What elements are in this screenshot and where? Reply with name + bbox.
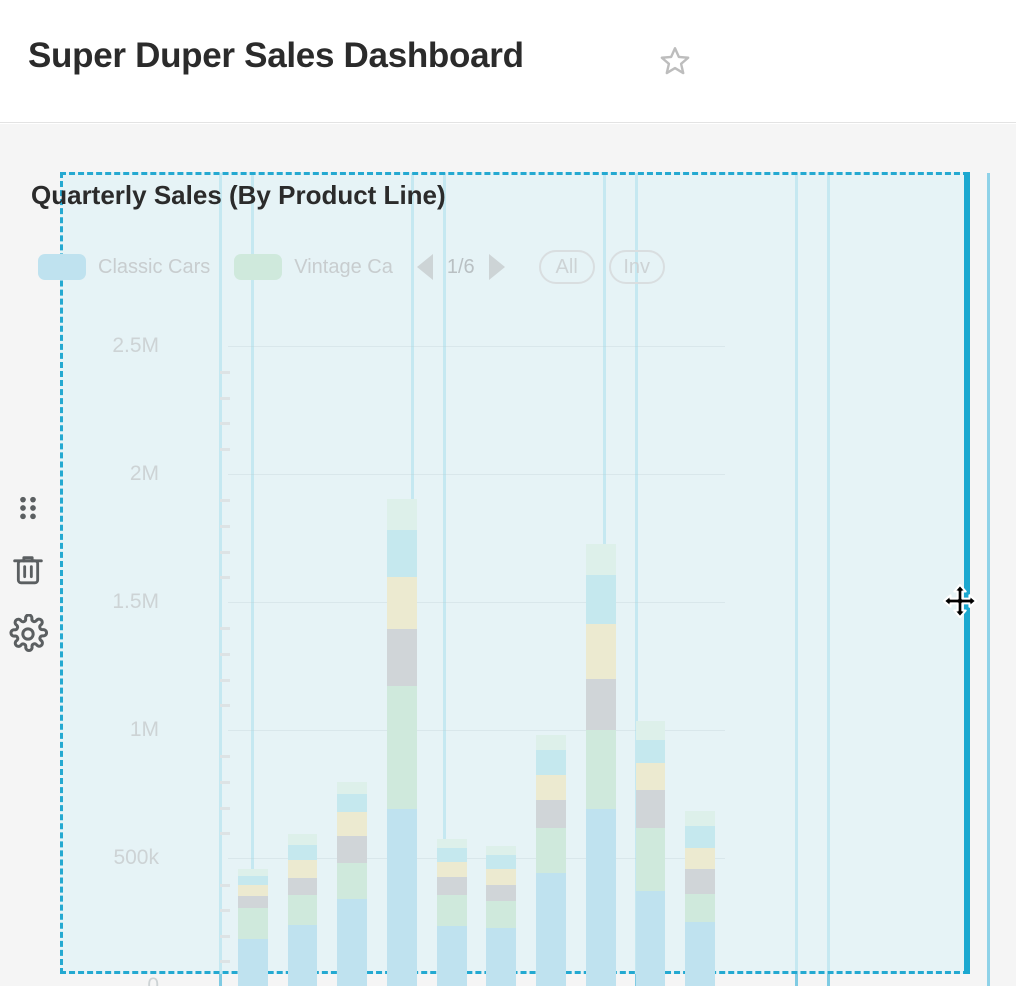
legend-item-classic-cars[interactable]: Classic Cars <box>38 254 210 280</box>
bar-segment <box>486 901 516 928</box>
bar-segment <box>238 885 268 897</box>
bar-segment <box>288 845 318 860</box>
y-gridline <box>228 474 725 475</box>
bar-stack[interactable] <box>586 544 616 986</box>
dashboard-canvas: Quarterly Sales (By Product Line) Classi… <box>0 124 1016 986</box>
bar-segment <box>437 926 467 986</box>
y-axis-minor-tick <box>220 884 230 887</box>
y-axis-minor-tick <box>220 781 230 784</box>
bar-segment <box>586 544 616 575</box>
y-axis-minor-tick <box>220 653 230 656</box>
bar-segment <box>586 809 616 986</box>
bar-segment <box>586 679 616 730</box>
bar-segment <box>288 834 318 846</box>
bar-segment <box>486 869 516 884</box>
bar-segment <box>337 782 367 794</box>
bar-segment <box>288 878 318 895</box>
bar-segment <box>337 863 367 899</box>
y-gridline <box>228 602 725 603</box>
bar-segment <box>636 891 666 986</box>
plot-area: 0500k1M1.5M2M2.5M2003AprJulOct2004AprJul… <box>168 320 668 980</box>
bar-segment <box>586 575 616 624</box>
filter-inv-button[interactable]: Inv <box>609 250 665 284</box>
bar-segment <box>536 775 566 801</box>
y-axis-tick-label: 2.5M <box>112 334 159 358</box>
star-outline-icon[interactable] <box>658 44 692 78</box>
legend-item-vintage-cars[interactable]: Vintage Ca <box>234 254 393 280</box>
bar-segment <box>486 855 516 869</box>
bar-segment <box>685 894 715 922</box>
pager-count: 1/6 <box>447 256 475 279</box>
filter-all-button[interactable]: All <box>539 250 595 284</box>
page-title: Super Duper Sales Dashboard <box>28 36 524 76</box>
bar-segment <box>387 577 417 628</box>
bar-segment <box>536 735 566 750</box>
bar-segment <box>437 895 467 926</box>
bar-segment <box>636 790 666 828</box>
bar-segment <box>536 828 566 873</box>
bar-segment <box>685 922 715 986</box>
bar-segment <box>636 763 666 790</box>
y-axis-minor-tick <box>220 909 230 912</box>
bar-segment <box>486 885 516 902</box>
bar-segment <box>437 848 467 862</box>
drag-handle-icon[interactable] <box>8 488 48 528</box>
bar-segment <box>586 624 616 679</box>
bar-segment <box>437 862 467 877</box>
bar-segment <box>387 499 417 530</box>
y-axis-minor-tick <box>220 576 230 579</box>
bar-segment <box>437 839 467 848</box>
bar-segment <box>387 629 417 687</box>
chart-legend: Classic Cars Vintage Ca 1/6 All Inv <box>38 250 665 284</box>
bar-segment <box>636 828 666 891</box>
bar-stack[interactable] <box>288 834 318 986</box>
y-axis-tick-label: 1M <box>130 718 159 742</box>
bar-stack[interactable] <box>437 839 467 986</box>
panel-tool-rail <box>0 124 56 986</box>
bar-segment <box>288 860 318 878</box>
bar-segment <box>486 846 516 855</box>
bar-segment <box>238 939 268 986</box>
bar-segment <box>238 876 268 885</box>
legend-item-label: Vintage Ca <box>294 256 393 279</box>
bar-segment <box>486 928 516 986</box>
bar-segment <box>288 895 318 924</box>
bar-segment <box>536 750 566 774</box>
bar-segment <box>685 811 715 826</box>
y-axis-minor-tick <box>220 704 230 707</box>
bar-segment <box>636 721 666 740</box>
y-axis-minor-tick <box>220 679 230 682</box>
bar-segment <box>337 812 367 836</box>
y-axis-minor-tick <box>220 755 230 758</box>
y-axis-tick-label: 0 <box>147 974 159 986</box>
legend-swatch <box>234 254 282 280</box>
trash-icon[interactable] <box>8 550 48 590</box>
bar-stack[interactable] <box>685 811 715 986</box>
bar-segment <box>337 899 367 986</box>
y-axis-minor-tick <box>220 525 230 528</box>
bar-segment <box>238 896 268 908</box>
bar-segment <box>685 826 715 848</box>
y-axis-minor-tick <box>220 448 230 451</box>
gear-icon[interactable] <box>8 614 48 654</box>
y-axis-tick-label: 1.5M <box>112 590 159 614</box>
bar-stack[interactable] <box>337 782 367 986</box>
bar-segment <box>685 869 715 893</box>
bar-segment <box>536 873 566 986</box>
app-header: Super Duper Sales Dashboard <box>0 0 1016 123</box>
bar-stack[interactable] <box>238 869 268 986</box>
bar-segment <box>536 800 566 828</box>
chart-title: Quarterly Sales (By Product Line) <box>31 180 446 211</box>
y-axis-minor-tick <box>220 551 230 554</box>
panel-resize-handle-right[interactable] <box>964 172 970 974</box>
y-axis-minor-tick <box>220 371 230 374</box>
bar-stack[interactable] <box>486 846 516 986</box>
bar-segment <box>387 530 417 577</box>
grid-guide-line <box>987 173 990 986</box>
y-axis-minor-tick <box>220 807 230 810</box>
bar-segment <box>387 686 417 809</box>
y-axis-minor-tick <box>220 397 230 400</box>
bar-stack[interactable] <box>387 499 417 986</box>
triangle-right-icon[interactable] <box>489 254 505 280</box>
y-gridline <box>228 346 725 347</box>
bar-segment <box>636 740 666 763</box>
bar-segment <box>337 794 367 812</box>
y-axis-minor-tick <box>220 422 230 425</box>
bar-stack[interactable] <box>536 735 566 986</box>
triangle-left-icon[interactable] <box>417 254 433 280</box>
bar-segment <box>288 925 318 986</box>
bar-stack[interactable] <box>636 721 666 986</box>
y-axis-minor-tick <box>220 960 230 963</box>
y-axis-tick-label: 2M <box>130 462 159 486</box>
y-axis-tick-label: 500k <box>113 846 159 870</box>
bar-segment <box>337 836 367 863</box>
y-axis-minor-tick <box>220 935 230 938</box>
bar-segment <box>437 877 467 895</box>
y-axis-minor-tick <box>220 627 230 630</box>
bar-segment <box>238 869 268 875</box>
y-axis-minor-tick <box>220 832 230 835</box>
bar-segment <box>238 908 268 939</box>
legend-item-label: Classic Cars <box>98 256 210 279</box>
legend-pager: 1/6 <box>417 254 505 280</box>
bar-segment <box>685 848 715 870</box>
bar-segment <box>387 809 417 986</box>
y-axis-minor-tick <box>220 499 230 502</box>
bar-segment <box>586 730 616 809</box>
